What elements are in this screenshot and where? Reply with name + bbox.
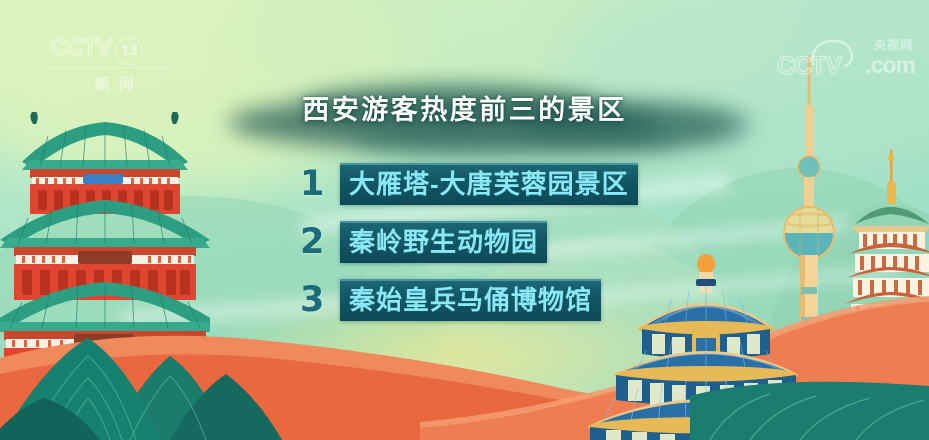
rank-number: 1 xyxy=(300,167,340,202)
list-item[interactable]: 2 秦岭野生动物园 xyxy=(300,218,730,266)
logo-divider xyxy=(50,67,168,68)
cctv-com-domain-text: .com xyxy=(865,52,915,79)
cctv-logo-text: CCTV xyxy=(50,34,111,61)
attraction-name: 大雁塔-大唐芙蓉园景区 xyxy=(340,163,638,206)
channel-subtitle: 新闻 xyxy=(50,73,180,94)
attraction-name: 秦始皇兵马俑博物馆 xyxy=(340,279,601,322)
channel-number: 13 xyxy=(115,37,143,65)
cctv-com-cn-text: 央视网 xyxy=(874,36,913,53)
news-graphic-frame: 西安游客热度前三的景区 1 大雁塔-大唐芙蓉园景区 2 秦岭野生动物园 3 秦始… xyxy=(0,0,929,440)
attraction-name: 秦岭野生动物园 xyxy=(340,221,547,264)
title-cloud-5 xyxy=(350,122,680,156)
green-mountains-icon xyxy=(0,322,310,440)
cctv-13-logo: CCTV13 新闻 xyxy=(50,36,180,98)
cctv-com-main-text: CCTV xyxy=(777,54,841,79)
list-item[interactable]: 1 大雁塔-大唐芙蓉园景区 xyxy=(300,160,730,208)
list-item[interactable]: 3 秦始皇兵马俑博物馆 xyxy=(300,276,730,324)
rank-number: 2 xyxy=(300,225,340,260)
cctv-com-watermark: 央视网 CCTV .com xyxy=(737,40,917,90)
rank-number: 3 xyxy=(300,283,340,318)
ranking-list: 1 大雁塔-大唐芙蓉园景区 2 秦岭野生动物园 3 秦始皇兵马俑博物馆 xyxy=(300,160,730,334)
teal-field xyxy=(690,372,929,440)
